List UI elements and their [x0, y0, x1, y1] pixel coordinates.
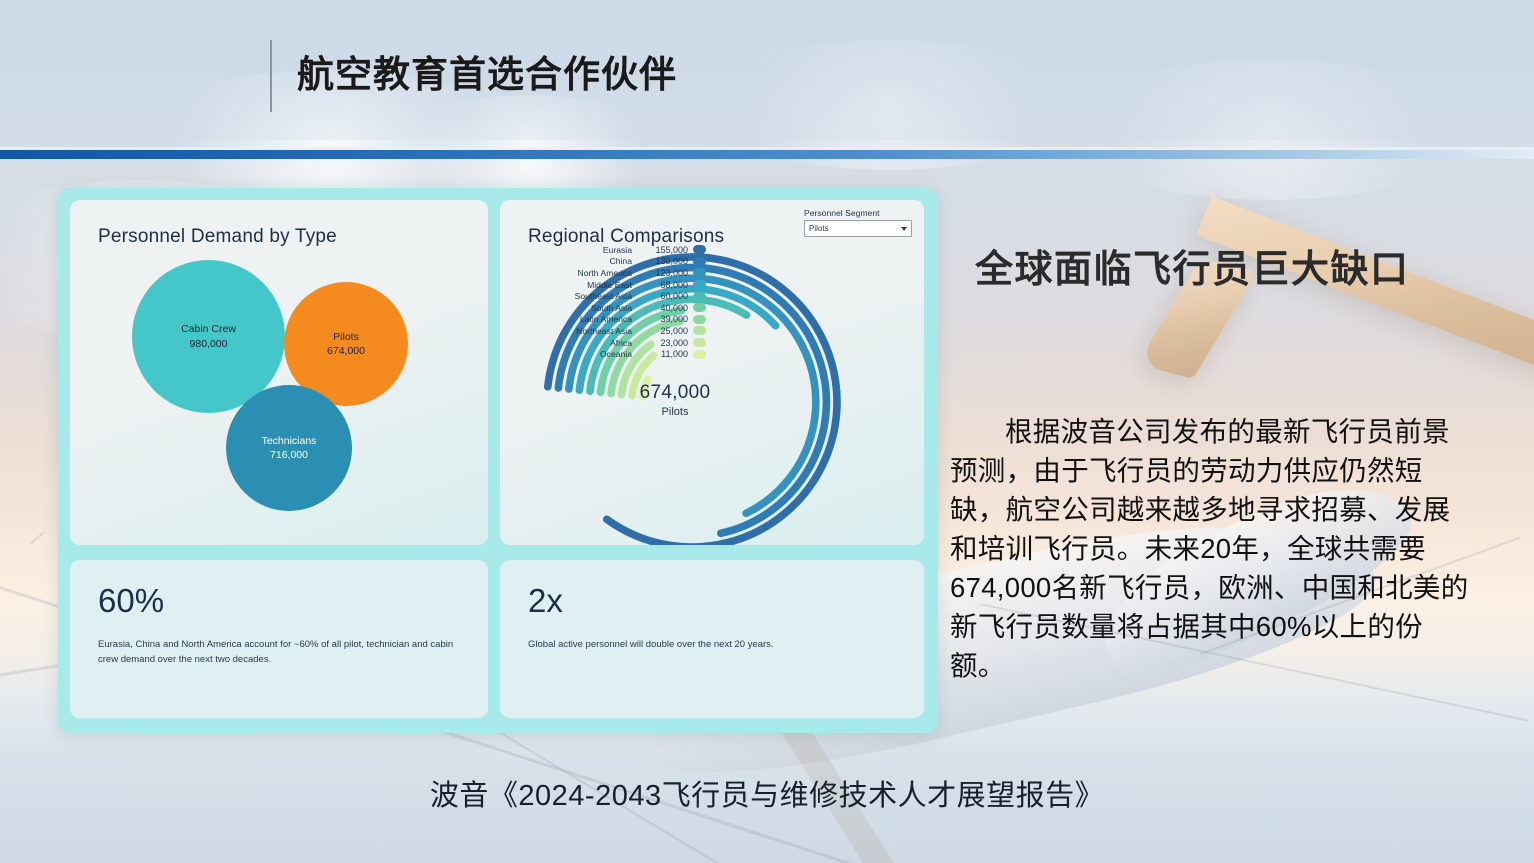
regional-value: 11,000 [638, 349, 688, 359]
regional-color-swatch [693, 245, 706, 254]
radial-center-label: 674,000 Pilots [605, 382, 745, 418]
regional-value: 23,000 [638, 338, 688, 348]
radial-bar-chart: Eurasia155,000China130,000North America1… [500, 234, 924, 545]
regional-name: Middle East [506, 280, 632, 290]
bubble-cabin-crew-label: Cabin Crew [181, 322, 236, 336]
regional-name: Southeast Asia [506, 291, 632, 301]
regional-color-swatch [693, 292, 706, 301]
regional-color-swatch [693, 326, 706, 335]
personnel-segment-selector[interactable]: Personnel Segment Pilots [804, 208, 912, 237]
regional-color-swatch [693, 257, 706, 266]
regional-value: 40,000 [638, 303, 688, 313]
bubble-cabin-crew-value: 980,000 [190, 337, 228, 351]
regional-value: 123,000 [638, 268, 688, 278]
bubble-technicians-label: Technicians [262, 434, 317, 448]
right-panel-title: 全球面临飞行员巨大缺口 [975, 238, 1410, 293]
radial-center-value: 674,000 [605, 382, 745, 404]
source-caption: 波音《2024-2043飞行员与维修技术人才展望报告》 [0, 772, 1534, 814]
regional-value-table: Eurasia155,000China130,000North America1… [506, 244, 706, 360]
regional-name: Northeast Asia [506, 326, 632, 336]
regional-color-swatch [693, 280, 706, 289]
header-divider-bar [0, 150, 1534, 159]
regional-name: Africa [506, 338, 632, 348]
regional-row: China130,000 [506, 256, 706, 268]
regional-value: 25,000 [638, 326, 688, 336]
personnel-segment-label: Personnel Segment [804, 208, 912, 218]
regional-color-swatch [693, 338, 706, 347]
regional-row: Africa23,000 [506, 337, 706, 349]
regional-row: South Asia40,000 [506, 302, 706, 314]
personnel-segment-value: Pilots [809, 224, 901, 233]
regional-row: Middle East68,000 [506, 279, 706, 291]
radial-center-sublabel: Pilots [605, 406, 745, 418]
regional-comparisons-card: Regional Comparisons Personnel Segment P… [500, 200, 924, 545]
regional-name: Latin America [506, 314, 632, 324]
stat-number: 60% [98, 582, 164, 620]
stat-card-60-percent: 60% Eurasia, China and North America acc… [70, 560, 488, 718]
regional-row: Southeast Asia60,000 [506, 290, 706, 302]
stat-description: Global active personnel will double over… [528, 638, 898, 653]
regional-row: Eurasia155,000 [506, 244, 706, 256]
regional-color-swatch [693, 350, 706, 359]
regional-name: Oceania [506, 349, 632, 359]
regional-name: Eurasia [506, 245, 632, 255]
chevron-down-icon [901, 227, 907, 231]
right-panel-body: 根据波音公司发布的最新飞行员前景预测，由于飞行员的劳动力供应仍然短缺，航空公司越… [950, 412, 1470, 685]
regional-name: North America [506, 268, 632, 278]
stat-card-2x: 2x Global active personnel will double o… [500, 560, 924, 718]
regional-row: Latin America39,000 [506, 314, 706, 326]
regional-row: Northeast Asia25,000 [506, 325, 706, 337]
header-band [0, 0, 1534, 140]
regional-name: South Asia [506, 303, 632, 313]
personnel-demand-title: Personnel Demand by Type [98, 226, 337, 248]
regional-color-swatch [693, 268, 706, 277]
regional-name: China [506, 256, 632, 266]
stat-description: Eurasia, China and North America account… [98, 638, 462, 667]
regional-value: 68,000 [638, 280, 688, 290]
stat-number: 2x [528, 582, 563, 620]
regional-value: 60,000 [638, 291, 688, 301]
regional-value: 155,000 [638, 245, 688, 255]
page-title: 航空教育首选合作伙伴 [297, 44, 677, 98]
regional-value: 130,000 [638, 256, 688, 266]
bubble-pilots-value: 674,000 [327, 344, 365, 358]
bubble-pilots-label: Pilots [333, 330, 359, 344]
regional-value: 39,000 [638, 314, 688, 324]
dashboard-panel: Personnel Demand by Type Cabin Crew 980,… [58, 188, 938, 733]
vertical-rule-icon [270, 40, 272, 112]
regional-row: North America123,000 [506, 267, 706, 279]
bubble-technicians-value: 716,000 [270, 448, 308, 462]
personnel-demand-card: Personnel Demand by Type Cabin Crew 980,… [70, 200, 488, 545]
bubble-technicians[interactable]: Technicians 716,000 [226, 385, 352, 511]
regional-color-swatch [693, 303, 706, 312]
bubble-chart: Cabin Crew 980,000 Pilots 674,000 Techni… [70, 250, 488, 540]
regional-color-swatch [693, 315, 706, 324]
regional-row: Oceania11,000 [506, 348, 706, 360]
